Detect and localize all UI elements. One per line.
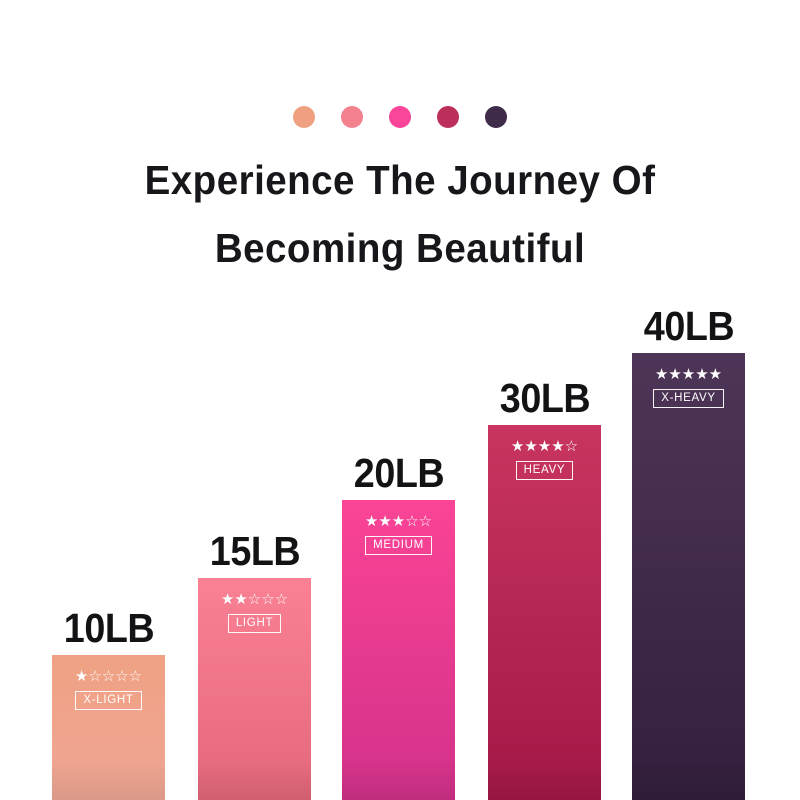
bar-content: ★★★☆☆MEDIUM: [342, 514, 455, 555]
star-empty-icon: ☆: [102, 669, 115, 684]
bar-content: ★★☆☆☆LIGHT: [198, 592, 311, 633]
star-empty-icon: ☆: [261, 592, 274, 607]
bar-group[interactable]: 15LB★★☆☆☆LIGHT: [198, 578, 311, 800]
star-filled-icon: ★: [234, 592, 247, 607]
bar-weight-label: 30LB: [499, 378, 589, 419]
bar-group[interactable]: 40LB★★★★★X-HEAVY: [632, 353, 745, 800]
bar-content: ★★★★★X-HEAVY: [632, 367, 745, 408]
star-empty-icon: ☆: [419, 514, 432, 529]
star-filled-icon: ★: [695, 367, 708, 382]
bar-group[interactable]: 10LB★☆☆☆☆X-LIGHT: [52, 655, 165, 800]
bar-weight-label: 10LB: [63, 608, 153, 649]
star-filled-icon: ★: [551, 439, 564, 454]
bar-weight-label: 20LB: [353, 453, 443, 494]
bar-weight-label: 40LB: [643, 306, 733, 347]
star-filled-icon: ★: [378, 514, 391, 529]
bar-content: ★☆☆☆☆X-LIGHT: [52, 669, 165, 710]
star-empty-icon: ☆: [129, 669, 142, 684]
star-filled-icon: ★: [511, 439, 524, 454]
bar-bottom-shade: [488, 758, 601, 800]
bar-content: ★★★★☆HEAVY: [488, 439, 601, 480]
star-empty-icon: ☆: [565, 439, 578, 454]
bar-level-tag: LIGHT: [228, 614, 281, 633]
bar-bottom-shade: [52, 758, 165, 800]
star-filled-icon: ★: [221, 592, 234, 607]
star-rating: ★★★★★: [655, 367, 722, 382]
bar-fill: ★★★★★X-HEAVY: [632, 353, 745, 800]
bar-level-tag: HEAVY: [516, 461, 574, 480]
bar-level-tag: X-HEAVY: [653, 389, 724, 408]
star-rating: ★★☆☆☆: [221, 592, 288, 607]
bar-group[interactable]: 30LB★★★★☆HEAVY: [488, 425, 601, 800]
star-filled-icon: ★: [538, 439, 551, 454]
resistance-bar-chart: 10LB★☆☆☆☆X-LIGHT15LB★★☆☆☆LIGHT20LB★★★☆☆M…: [0, 0, 800, 800]
star-filled-icon: ★: [709, 367, 722, 382]
bar-fill: ★★★☆☆MEDIUM: [342, 500, 455, 800]
bar-fill: ★☆☆☆☆X-LIGHT: [52, 655, 165, 800]
star-filled-icon: ★: [365, 514, 378, 529]
bar-level-tag: MEDIUM: [365, 536, 432, 555]
chart-canvas: Experience The Journey Of Becoming Beaut…: [0, 0, 800, 800]
star-rating: ★★★☆☆: [365, 514, 432, 529]
star-filled-icon: ★: [655, 367, 668, 382]
star-empty-icon: ☆: [405, 514, 418, 529]
star-filled-icon: ★: [668, 367, 681, 382]
star-rating: ★★★★☆: [511, 439, 578, 454]
star-empty-icon: ☆: [88, 669, 101, 684]
bar-bottom-shade: [198, 758, 311, 800]
star-empty-icon: ☆: [275, 592, 288, 607]
star-filled-icon: ★: [524, 439, 537, 454]
bar-bottom-shade: [342, 758, 455, 800]
bar-level-tag: X-LIGHT: [75, 691, 141, 710]
bar-bottom-shade: [632, 758, 745, 800]
star-filled-icon: ★: [392, 514, 405, 529]
star-rating: ★☆☆☆☆: [75, 669, 142, 684]
star-empty-icon: ☆: [115, 669, 128, 684]
star-filled-icon: ★: [75, 669, 88, 684]
bar-group[interactable]: 20LB★★★☆☆MEDIUM: [342, 500, 455, 800]
bar-fill: ★★☆☆☆LIGHT: [198, 578, 311, 800]
star-empty-icon: ☆: [248, 592, 261, 607]
bar-weight-label: 15LB: [209, 531, 299, 572]
star-filled-icon: ★: [682, 367, 695, 382]
bar-fill: ★★★★☆HEAVY: [488, 425, 601, 800]
